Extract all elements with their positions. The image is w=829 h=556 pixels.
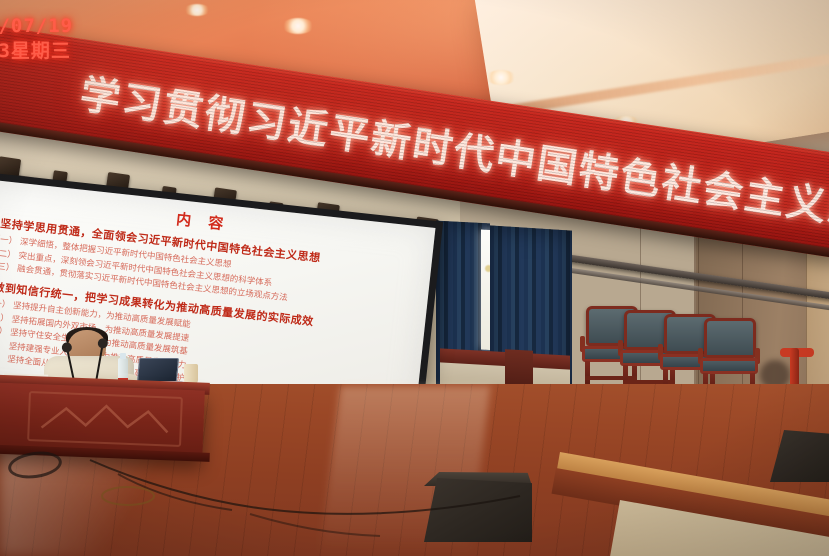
slide-item-number: （一）: [0, 234, 18, 247]
auditorium-photo: 学习贯彻习近平新时代中国特色社会主义思想主题教育专题党课报告会 8/07/19 …: [0, 0, 829, 556]
downlight-2: [486, 70, 516, 85]
laptop-screen: [137, 358, 179, 382]
slide-item-number: （二）: [0, 248, 16, 261]
slide-item-number: （二）: [0, 311, 9, 324]
downlight-6: [184, 4, 210, 16]
slide-item-number: （五）: [0, 352, 5, 365]
slide-item-number: （三）: [0, 325, 8, 338]
slide-item-number: （四）: [0, 338, 6, 351]
slide-item-number: （一）: [0, 298, 11, 311]
osd-time: 53星期三: [0, 39, 73, 64]
slide-item-number: （三）: [0, 261, 15, 274]
downlight-1: [282, 18, 314, 34]
camera-timestamp-overlay: 8/07/19 53星期三: [0, 14, 73, 64]
osd-date: 8/07/19: [0, 14, 73, 39]
chair-back: [704, 318, 756, 358]
floor-cables: [0, 430, 560, 556]
chair-seat: [700, 358, 758, 374]
